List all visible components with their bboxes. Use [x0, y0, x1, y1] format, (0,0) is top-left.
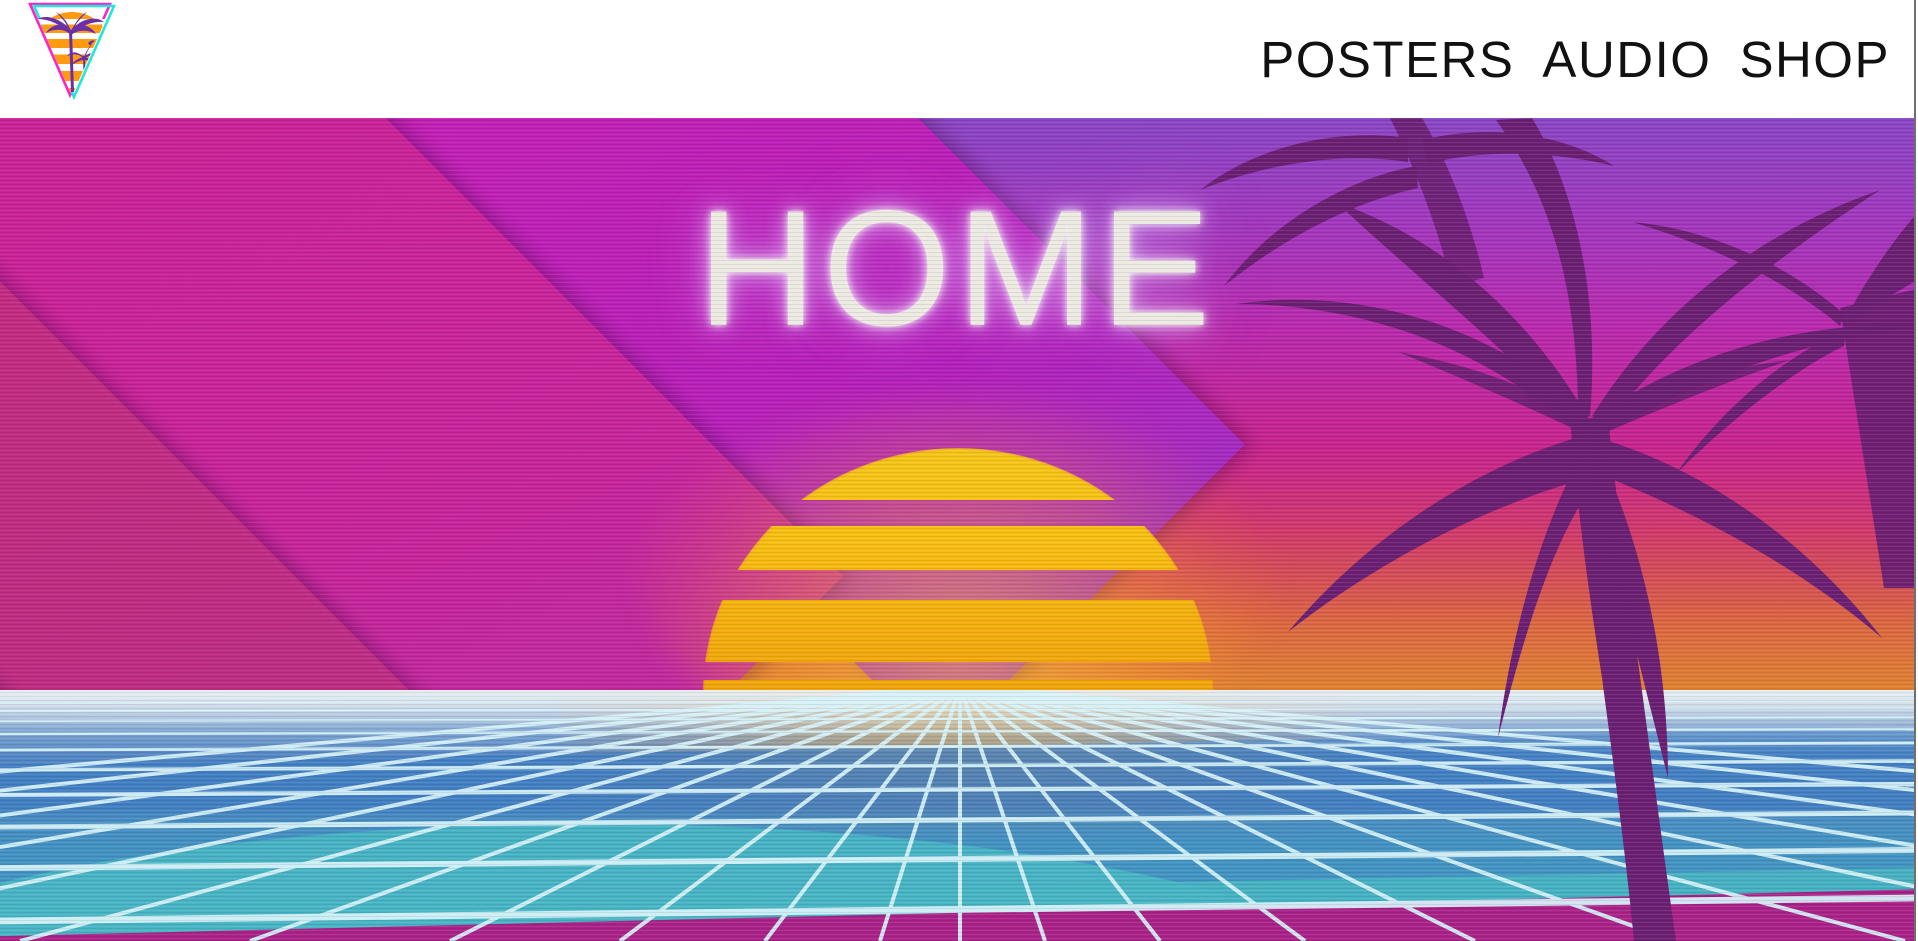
page-right-border — [1914, 0, 1918, 941]
retro-sun — [703, 448, 1213, 698]
perspective-grid-floor — [0, 690, 1914, 941]
brand-logo-link[interactable] — [18, 0, 126, 104]
main-navigation: POSTERS AUDIO SHOP — [1246, 0, 1900, 118]
nav-link-audio[interactable]: AUDIO — [1528, 34, 1725, 85]
page-root: POSTERS AUDIO SHOP — [0, 0, 1918, 941]
retro-triangle-palm-sun-icon — [18, 0, 126, 104]
hero-banner: HOME — [0, 118, 1914, 941]
site-header: POSTERS AUDIO SHOP — [0, 0, 1914, 118]
grid-lines — [0, 690, 1914, 941]
nav-link-posters[interactable]: POSTERS — [1246, 34, 1528, 85]
nav-link-shop[interactable]: SHOP — [1725, 34, 1900, 85]
